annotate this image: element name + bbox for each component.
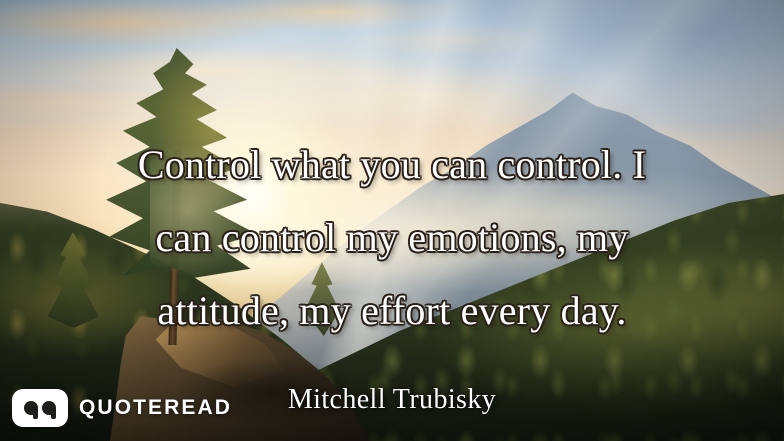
- brand-lockup[interactable]: QUOTEREAD: [12, 389, 232, 427]
- card-content: Control what you can control. I can cont…: [0, 0, 784, 441]
- quote-card: Control what you can control. I can cont…: [0, 0, 784, 441]
- quote-glyph-left: [24, 401, 38, 415]
- brand-wordmark: QUOTEREAD: [79, 396, 232, 420]
- quote-glyph-right: [42, 401, 56, 415]
- double-quote-icon: [12, 389, 68, 427]
- quote-line-2: can control my emotions, my: [28, 201, 756, 274]
- quote-line-1: Control what you can control. I: [28, 128, 756, 201]
- quote-line-3: attitude, my effort every day.: [28, 274, 756, 347]
- quote-text-block: Control what you can control. I can cont…: [0, 128, 784, 347]
